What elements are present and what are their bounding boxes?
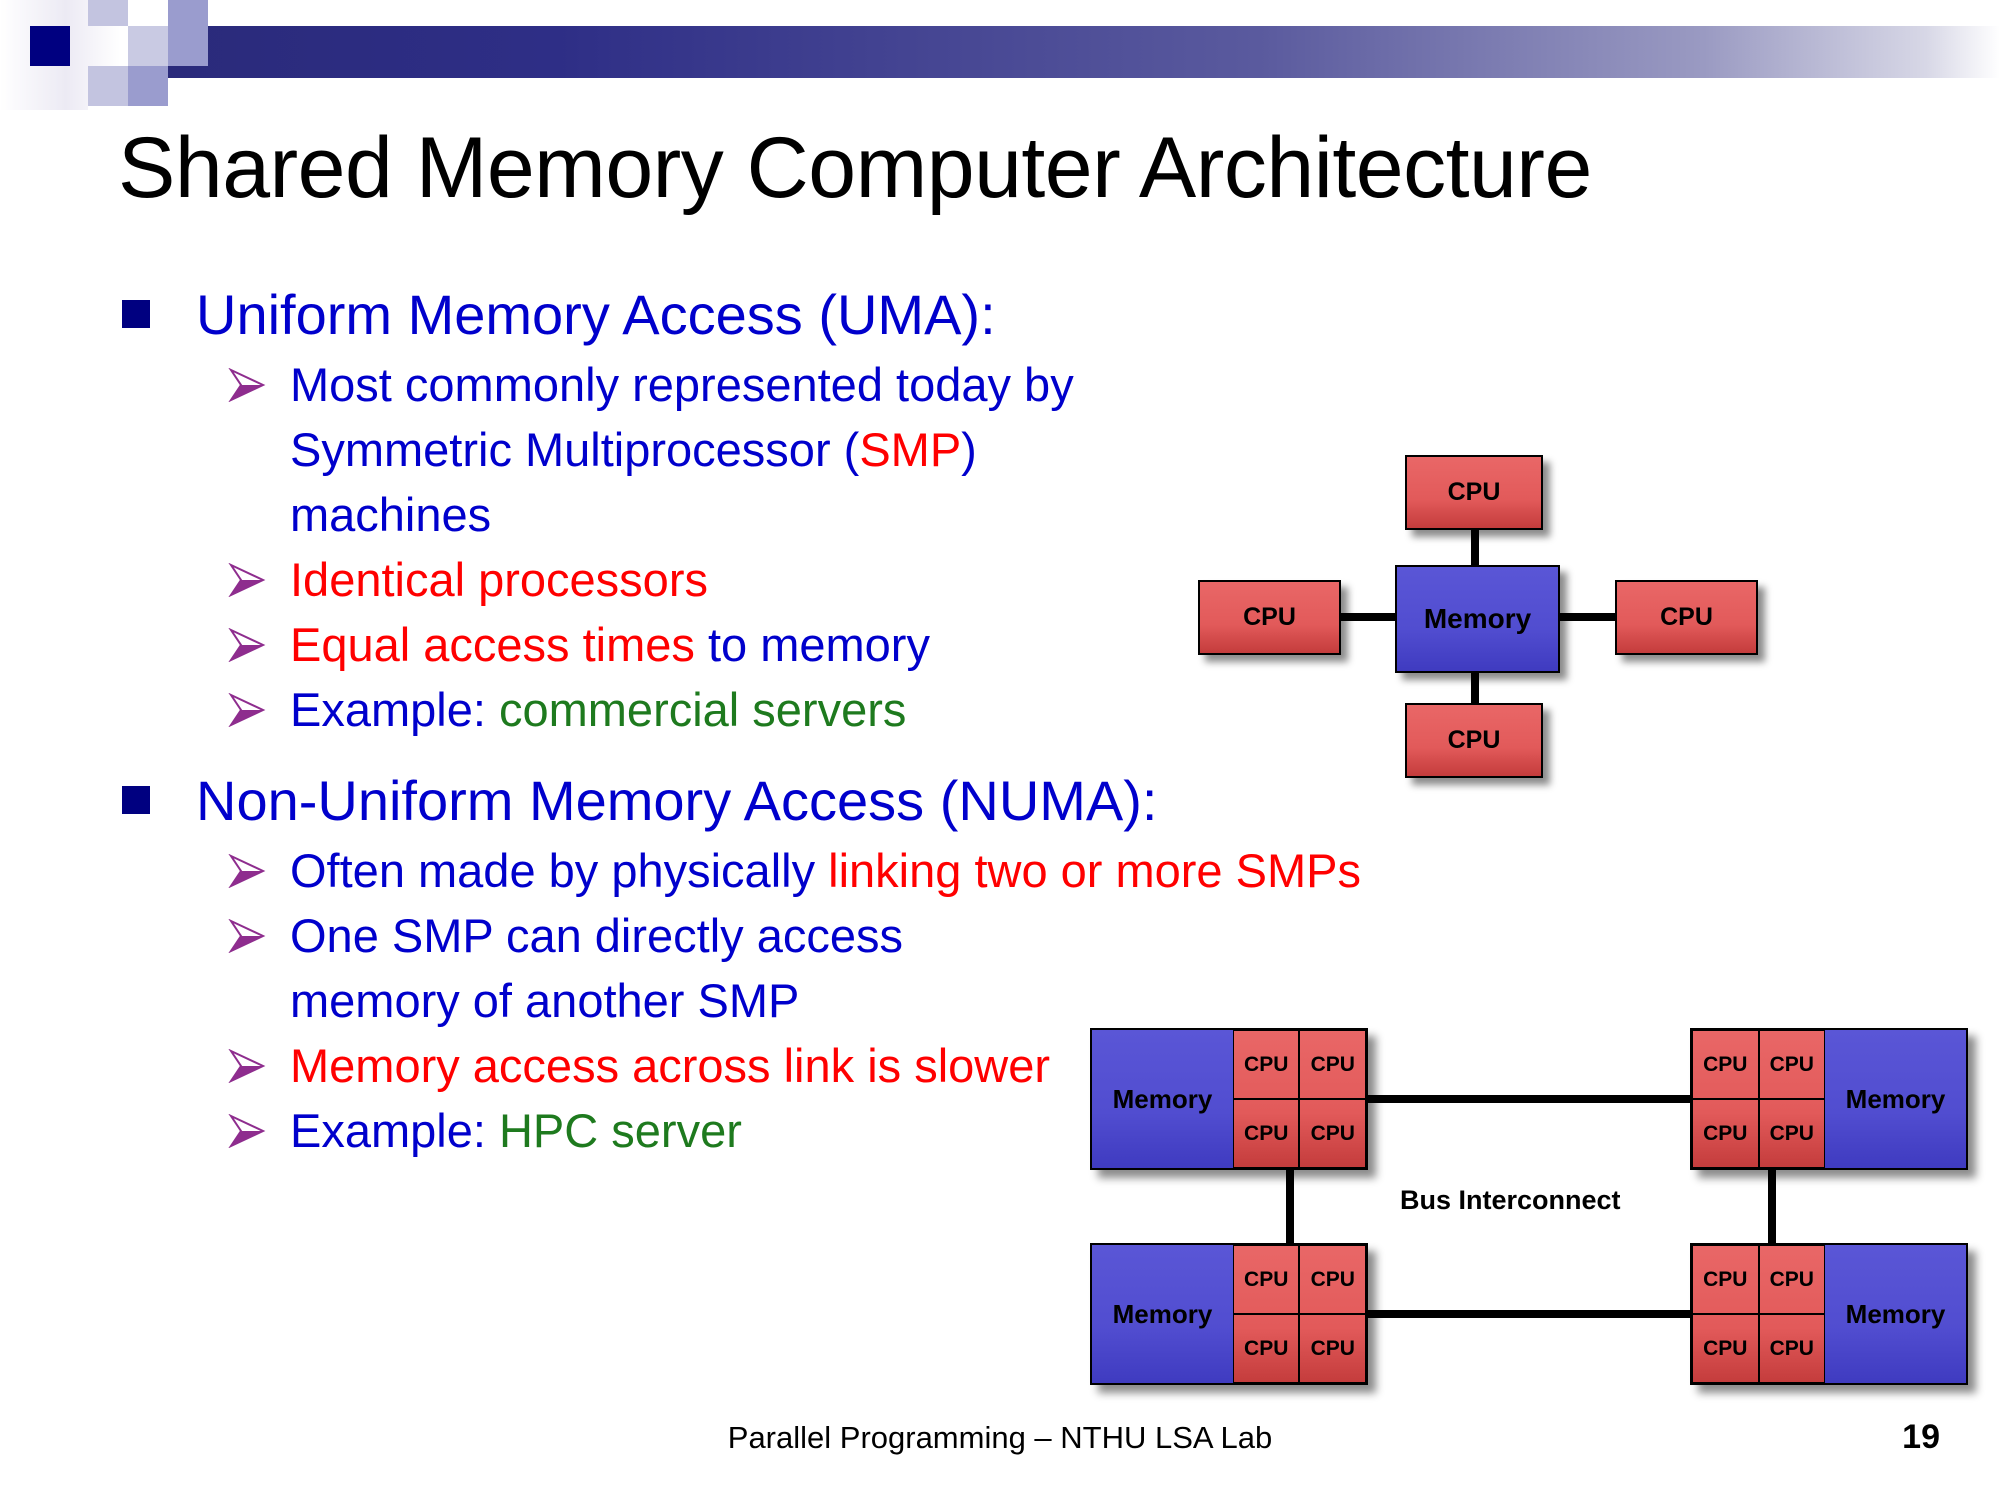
cpu-cell: CPU xyxy=(1299,1099,1366,1168)
uma-wire-top xyxy=(1471,527,1479,569)
uma-wire-right xyxy=(1558,613,1616,621)
section-heading-numa: Non-Uniform Memory Access (NUMA): xyxy=(0,764,2000,838)
cpu-cell: CPU xyxy=(1299,1314,1366,1383)
uma-cpu-left: CPU xyxy=(1198,580,1341,655)
decorative-header-graphic xyxy=(0,0,2000,110)
memory-block: Memory xyxy=(1092,1245,1233,1383)
memory-label: Memory xyxy=(1846,1084,1946,1115)
cpu-grid: CPU CPU CPU CPU xyxy=(1692,1030,1825,1168)
header-square xyxy=(128,26,168,66)
memory-block: Memory xyxy=(1825,1030,1966,1168)
cpu-cell: CPU xyxy=(1692,1314,1759,1383)
slide-page-number: 19 xyxy=(1902,1418,1940,1457)
header-square xyxy=(88,66,128,106)
arrow-bullet-icon xyxy=(228,563,266,597)
cpu-cell: CPU xyxy=(1299,1030,1366,1099)
header-square xyxy=(128,66,168,106)
header-square xyxy=(168,26,208,66)
memory-label: Memory xyxy=(1846,1299,1946,1330)
section-heading-text: Uniform Memory Access (UMA): xyxy=(196,283,996,346)
bullet-text: Often made by physically linking two or … xyxy=(290,844,1361,897)
arrow-bullet-icon xyxy=(228,919,266,953)
square-bullet-icon xyxy=(122,786,150,814)
cpu-cell: CPU xyxy=(1233,1030,1300,1099)
numa-wire-bottom-horizontal xyxy=(1366,1310,1696,1318)
arrow-bullet-icon xyxy=(228,854,266,888)
numa-node-top-left: Memory CPU CPU CPU CPU xyxy=(1090,1028,1368,1170)
section-heading-text: Non-Uniform Memory Access (NUMA): xyxy=(196,769,1157,832)
numa-wire-top-horizontal xyxy=(1366,1095,1696,1103)
memory-label: Memory xyxy=(1113,1299,1213,1330)
square-bullet-icon xyxy=(122,300,150,328)
numa-node-bottom-right: Memory CPU CPU CPU CPU xyxy=(1690,1243,1968,1385)
cpu-cell: CPU xyxy=(1759,1245,1826,1314)
bullet-text: Identical processors xyxy=(290,553,708,606)
cpu-cell: CPU xyxy=(1692,1099,1759,1168)
bullet-text: Most commonly represented today by Symme… xyxy=(290,358,1074,541)
arrow-bullet-icon xyxy=(228,693,266,727)
cpu-grid: CPU CPU CPU CPU xyxy=(1233,1030,1366,1168)
cpu-cell: CPU xyxy=(1233,1099,1300,1168)
cpu-grid: CPU CPU CPU CPU xyxy=(1233,1245,1366,1383)
uma-diagram: CPU CPU CPU CPU Memory xyxy=(1190,455,1960,770)
arrow-bullet-icon xyxy=(228,1114,266,1148)
cpu-label: CPU xyxy=(1660,603,1713,632)
uma-cpu-bottom: CPU xyxy=(1405,703,1543,778)
cpu-cell: CPU xyxy=(1299,1245,1366,1314)
bullet-text: Memory access across link is slower xyxy=(290,1039,1050,1092)
header-square xyxy=(168,0,208,26)
numa-node-bottom-left: Memory CPU CPU CPU CPU xyxy=(1090,1243,1368,1385)
page-title: Shared Memory Computer Architecture xyxy=(118,120,1938,216)
uma-wire-left xyxy=(1340,613,1398,621)
cpu-cell: CPU xyxy=(1692,1030,1759,1099)
uma-cpu-right: CPU xyxy=(1615,580,1758,655)
bullet-uma-0: Most commonly represented today by Symme… xyxy=(0,352,1180,547)
memory-block: Memory xyxy=(1092,1030,1233,1168)
cpu-grid: CPU CPU CPU CPU xyxy=(1692,1245,1825,1383)
cpu-cell: CPU xyxy=(1233,1245,1300,1314)
section-heading-uma: Uniform Memory Access (UMA): xyxy=(0,278,2000,352)
arrow-bullet-icon xyxy=(228,368,266,402)
bullet-text: Example: HPC server xyxy=(290,1104,742,1157)
numa-wire-right-vertical xyxy=(1768,1155,1776,1255)
bullet-text: Equal access times to memory xyxy=(290,618,930,671)
numa-diagram: Memory CPU CPU CPU CPU Memory CPU CPU CP… xyxy=(1090,1010,1970,1375)
slide-footer: Parallel Programming – NTHU LSA Lab xyxy=(0,1420,2000,1456)
memory-label: Memory xyxy=(1113,1084,1213,1115)
bullet-numa-0: Often made by physically linking two or … xyxy=(0,838,2000,903)
arrow-bullet-icon xyxy=(228,628,266,662)
arrow-bullet-icon xyxy=(228,1049,266,1083)
cpu-cell: CPU xyxy=(1759,1314,1826,1383)
numa-node-top-right: Memory CPU CPU CPU CPU xyxy=(1690,1028,1968,1170)
memory-block: Memory xyxy=(1825,1245,1966,1383)
cpu-label: CPU xyxy=(1448,478,1501,507)
uma-cpu-top: CPU xyxy=(1405,455,1543,530)
cpu-cell: CPU xyxy=(1692,1245,1759,1314)
cpu-cell: CPU xyxy=(1759,1030,1826,1099)
slide-canvas: Shared Memory Computer Architecture Unif… xyxy=(0,0,2000,1500)
bullet-numa-1: One SMP can directly access memory of an… xyxy=(0,903,1080,1033)
cpu-cell: CPU xyxy=(1759,1099,1826,1168)
header-square xyxy=(30,26,70,66)
memory-label: Memory xyxy=(1424,603,1531,635)
bus-interconnect-label: Bus Interconnect xyxy=(1400,1185,1621,1216)
numa-wire-left-vertical xyxy=(1286,1155,1294,1255)
bullet-text: Example: commercial servers xyxy=(290,683,906,736)
bullet-text: One SMP can directly access memory of an… xyxy=(290,909,903,1027)
uma-memory: Memory xyxy=(1395,565,1560,673)
header-square xyxy=(88,0,128,26)
header-gradient-bar xyxy=(148,26,2000,78)
cpu-label: CPU xyxy=(1243,603,1296,632)
cpu-label: CPU xyxy=(1448,726,1501,755)
cpu-cell: CPU xyxy=(1233,1314,1300,1383)
